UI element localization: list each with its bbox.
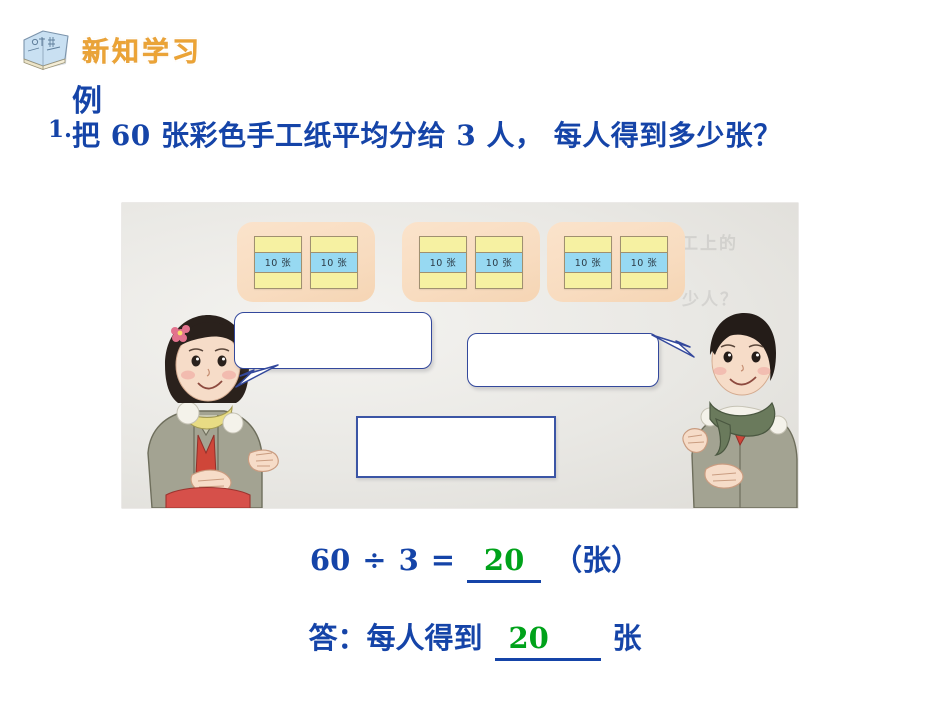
equation-divide-sign: ÷	[362, 543, 386, 577]
pack-top	[621, 237, 667, 253]
pack-label: 10 张	[420, 253, 466, 273]
left-speech-bubble[interactable]	[234, 312, 432, 369]
answer-value-blank[interactable]: 20	[495, 621, 601, 661]
pack-label: 10 张	[255, 253, 301, 273]
pack-bottom	[255, 273, 301, 288]
paper-pack: 10 张	[475, 236, 523, 289]
example-number: 1.	[48, 116, 72, 143]
pack-label: 10 张	[311, 253, 357, 273]
equation-dividend: 60	[310, 543, 350, 577]
textbook-illustration: 的工上的 少人？ 10 张 10 张 10 张 10 张 10 张	[122, 203, 798, 508]
left-speech-bubble-text	[235, 313, 431, 329]
paper-group-1: 10 张 10 张	[237, 222, 375, 302]
paper-pack: 10 张	[419, 236, 467, 289]
question-line: 1. 把 60 张彩色手工纸平均分给 3 人， 每人得到多少张？	[48, 114, 948, 154]
paper-group-3: 10 张 10 张	[547, 222, 685, 302]
answer-unit: 张	[613, 621, 642, 655]
paper-group-2: 10 张 10 张	[402, 222, 540, 302]
slide-header: 新知学习	[20, 26, 202, 72]
pack-label: 10 张	[476, 253, 522, 273]
right-bubble-tail	[650, 331, 696, 365]
pack-bottom	[621, 273, 667, 288]
equation-divisor: 3	[399, 543, 419, 577]
right-speech-bubble-text	[468, 334, 658, 350]
pack-bottom	[565, 273, 611, 288]
pack-top	[255, 237, 301, 253]
pack-label: 10 张	[565, 253, 611, 273]
equation-result-blank[interactable]: 20	[467, 543, 541, 583]
left-bubble-tail	[234, 363, 280, 393]
equation-unit: （张）	[553, 543, 640, 577]
pack-top	[476, 237, 522, 253]
question-text: 把 60 张彩色手工纸平均分给 3 人， 每人得到多少张？	[72, 114, 782, 154]
illustration-answer-box[interactable]	[356, 416, 556, 478]
page-title: 新知学习	[82, 30, 202, 69]
pack-bottom	[311, 273, 357, 288]
pack-label: 10 张	[621, 253, 667, 273]
open-book-icon	[20, 26, 72, 72]
answer-line: 答：每人得到20张	[0, 615, 950, 661]
boy-character	[682, 303, 798, 508]
pack-bottom	[420, 273, 466, 288]
pack-top	[311, 237, 357, 253]
right-speech-bubble[interactable]	[467, 333, 659, 387]
paper-pack: 10 张	[564, 236, 612, 289]
answer-prefix: 答：每人得到	[308, 621, 482, 655]
pack-top	[565, 237, 611, 253]
pack-bottom	[476, 273, 522, 288]
pack-top	[420, 237, 466, 253]
equation-equals: =	[431, 543, 455, 577]
equation-line: 60÷3=20（张）	[0, 537, 950, 583]
question-block: 例 1. 把 60 张彩色手工纸平均分给 3 人， 每人得到多少张？	[48, 86, 948, 154]
illustration-answer-text	[358, 418, 554, 438]
paper-pack: 10 张	[310, 236, 358, 289]
paper-pack: 10 张	[254, 236, 302, 289]
paper-pack: 10 张	[620, 236, 668, 289]
